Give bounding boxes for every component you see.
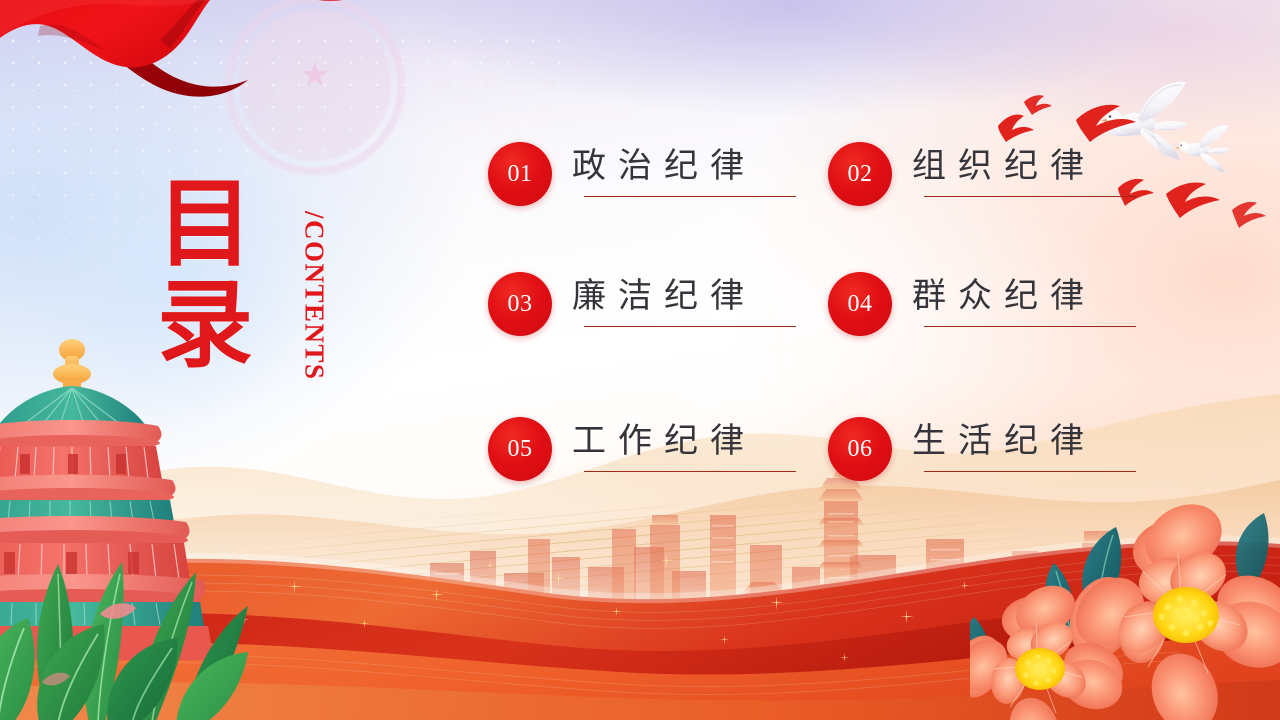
item-text-06: 生活纪律 [912, 417, 1142, 472]
title-block: 目 录 /CONTENTS [150, 175, 370, 465]
item-label-03: 廉洁纪律 [572, 276, 802, 319]
contents-item-04[interactable]: 04 群众纪律 [828, 272, 1168, 338]
item-number-03: 03 [508, 291, 533, 318]
green-leaves-icon [0, 486, 250, 720]
item-underline-05 [584, 471, 796, 473]
item-text-03: 廉洁纪律 [572, 272, 802, 327]
item-label-01: 政治纪律 [572, 146, 802, 189]
item-label-04: 群众纪律 [912, 276, 1142, 319]
item-label-05: 工作纪律 [572, 421, 802, 464]
item-label-02: 组织纪律 [912, 146, 1142, 189]
page-title-char-2: 录 [150, 276, 262, 377]
page-title-char-1: 目 [150, 175, 262, 276]
presentation-slide: 目 录 /CONTENTS 01 政治纪律 02 组织纪律 [0, 0, 1280, 720]
item-label-06: 生活纪律 [912, 421, 1142, 464]
contents-item-06[interactable]: 06 生活纪律 [828, 417, 1168, 483]
item-underline-02 [924, 196, 1136, 198]
item-number-badge-01: 01 [488, 142, 552, 206]
item-text-05: 工作纪律 [572, 417, 802, 472]
contents-menu: 01 政治纪律 02 组织纪律 03 廉洁纪律 [488, 142, 1168, 502]
item-underline-03 [584, 326, 796, 328]
waving-red-flag [0, 0, 460, 150]
waving-red-flag-icon [0, 0, 460, 150]
item-number-badge-02: 02 [828, 142, 892, 206]
item-number-02: 02 [848, 161, 873, 188]
item-text-04: 群众纪律 [912, 272, 1142, 327]
item-number-04: 04 [848, 291, 873, 318]
item-number-06: 06 [848, 436, 873, 463]
contents-item-02[interactable]: 02 组织纪律 [828, 142, 1168, 208]
item-text-02: 组织纪律 [912, 142, 1142, 197]
item-number-badge-04: 04 [828, 272, 892, 336]
item-number-05: 05 [508, 436, 533, 463]
item-text-01: 政治纪律 [572, 142, 802, 197]
item-number-01: 01 [508, 161, 533, 188]
white-dove-small-icon [1175, 125, 1231, 173]
contents-item-05[interactable]: 05 工作纪律 [488, 417, 828, 483]
page-title: 目 录 [150, 175, 262, 377]
page-subtitle-wrapper: /CONTENTS [284, 211, 344, 471]
item-underline-01 [584, 196, 796, 198]
item-underline-06 [924, 471, 1136, 473]
page-subtitle: /CONTENTS [299, 211, 330, 381]
contents-item-03[interactable]: 03 廉洁纪律 [488, 272, 828, 338]
item-number-badge-03: 03 [488, 272, 552, 336]
coral-peony-flowers-icon [970, 487, 1280, 720]
contents-item-01[interactable]: 01 政治纪律 [488, 142, 828, 208]
item-number-badge-06: 06 [828, 417, 892, 481]
item-number-badge-05: 05 [488, 417, 552, 481]
item-underline-04 [924, 326, 1136, 328]
